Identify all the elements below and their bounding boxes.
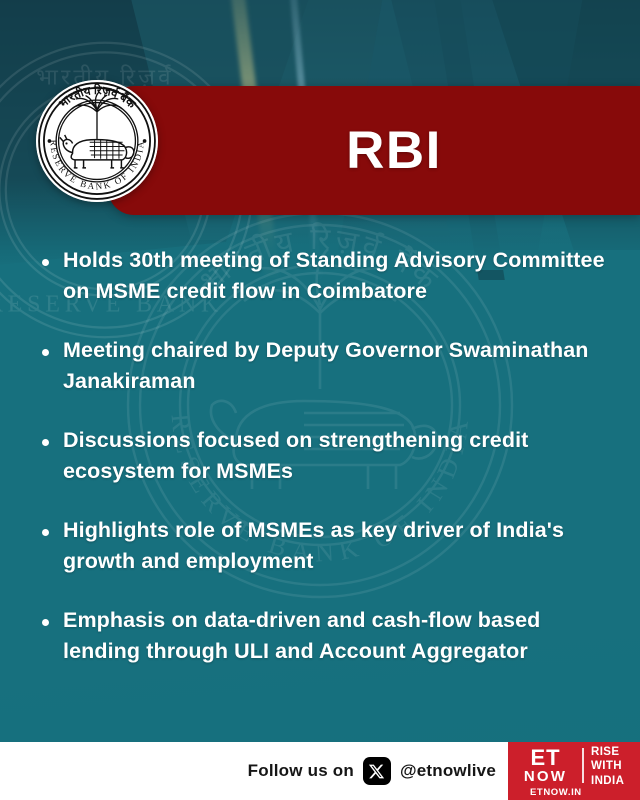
tagline-line-1: RISE [591, 745, 624, 759]
tagline-line-3: INDIA [591, 774, 624, 788]
bullet-text: Holds 30th meeting of Standing Advisory … [63, 245, 611, 306]
etnow-logo-row: ET NOW RISE WITH INDIA [516, 745, 634, 788]
bullet-text: Discussions focused on strengthening cre… [63, 425, 611, 486]
page-title: RBI [306, 120, 442, 181]
bullet-dot-icon [42, 439, 49, 446]
title-banner: RBI [108, 86, 640, 215]
etnow-url-text[interactable]: ETNOW.IN [516, 787, 634, 798]
bullet-dot-icon [42, 259, 49, 266]
bullet-text: Emphasis on data-driven and cash-flow ba… [63, 605, 611, 666]
bullet-dot-icon [42, 349, 49, 356]
list-item: Meeting chaired by Deputy Governor Swami… [36, 335, 616, 396]
list-item: Highlights role of MSMEs as key driver o… [36, 515, 616, 576]
footer: Follow us on @etnowlive ET NOW RISE WITH… [0, 742, 640, 800]
bullet-dot-icon [42, 529, 49, 536]
etnow-logo[interactable]: ET NOW RISE WITH INDIA ETNOW.IN [508, 742, 640, 800]
bullet-list: Holds 30th meeting of Standing Advisory … [36, 245, 616, 695]
rbi-seal-logo-icon: भारतीय रिज़र्व बैंक RESERVE BANK OF INDI… [36, 80, 158, 202]
bullet-dot-icon [42, 619, 49, 626]
etnow-et-text: ET [530, 748, 560, 769]
etnow-divider [582, 748, 584, 783]
etnow-tagline: RISE WITH INDIA [591, 745, 624, 788]
bullet-text: Highlights role of MSMEs as key driver o… [63, 515, 611, 576]
header: RBI भारतीय रिज़र्व बैंक [0, 0, 640, 240]
social-handle[interactable]: @etnowlive [400, 761, 496, 781]
list-item: Discussions focused on strengthening cre… [36, 425, 616, 486]
etnow-now-text: NOW [524, 769, 567, 785]
follow-us-label: Follow us on [248, 761, 354, 781]
tagline-line-2: WITH [591, 759, 624, 773]
list-item: Emphasis on data-driven and cash-flow ba… [36, 605, 616, 666]
follow-us-group: Follow us on @etnowlive [248, 757, 496, 785]
news-card: RESERVE BANK भारतीय रिज़र्व भारतीय रिज़र… [0, 0, 640, 800]
x-twitter-icon[interactable] [363, 757, 391, 785]
etnow-wordmark: ET NOW [516, 745, 582, 788]
list-item: Holds 30th meeting of Standing Advisory … [36, 245, 616, 306]
bullet-text: Meeting chaired by Deputy Governor Swami… [63, 335, 611, 396]
